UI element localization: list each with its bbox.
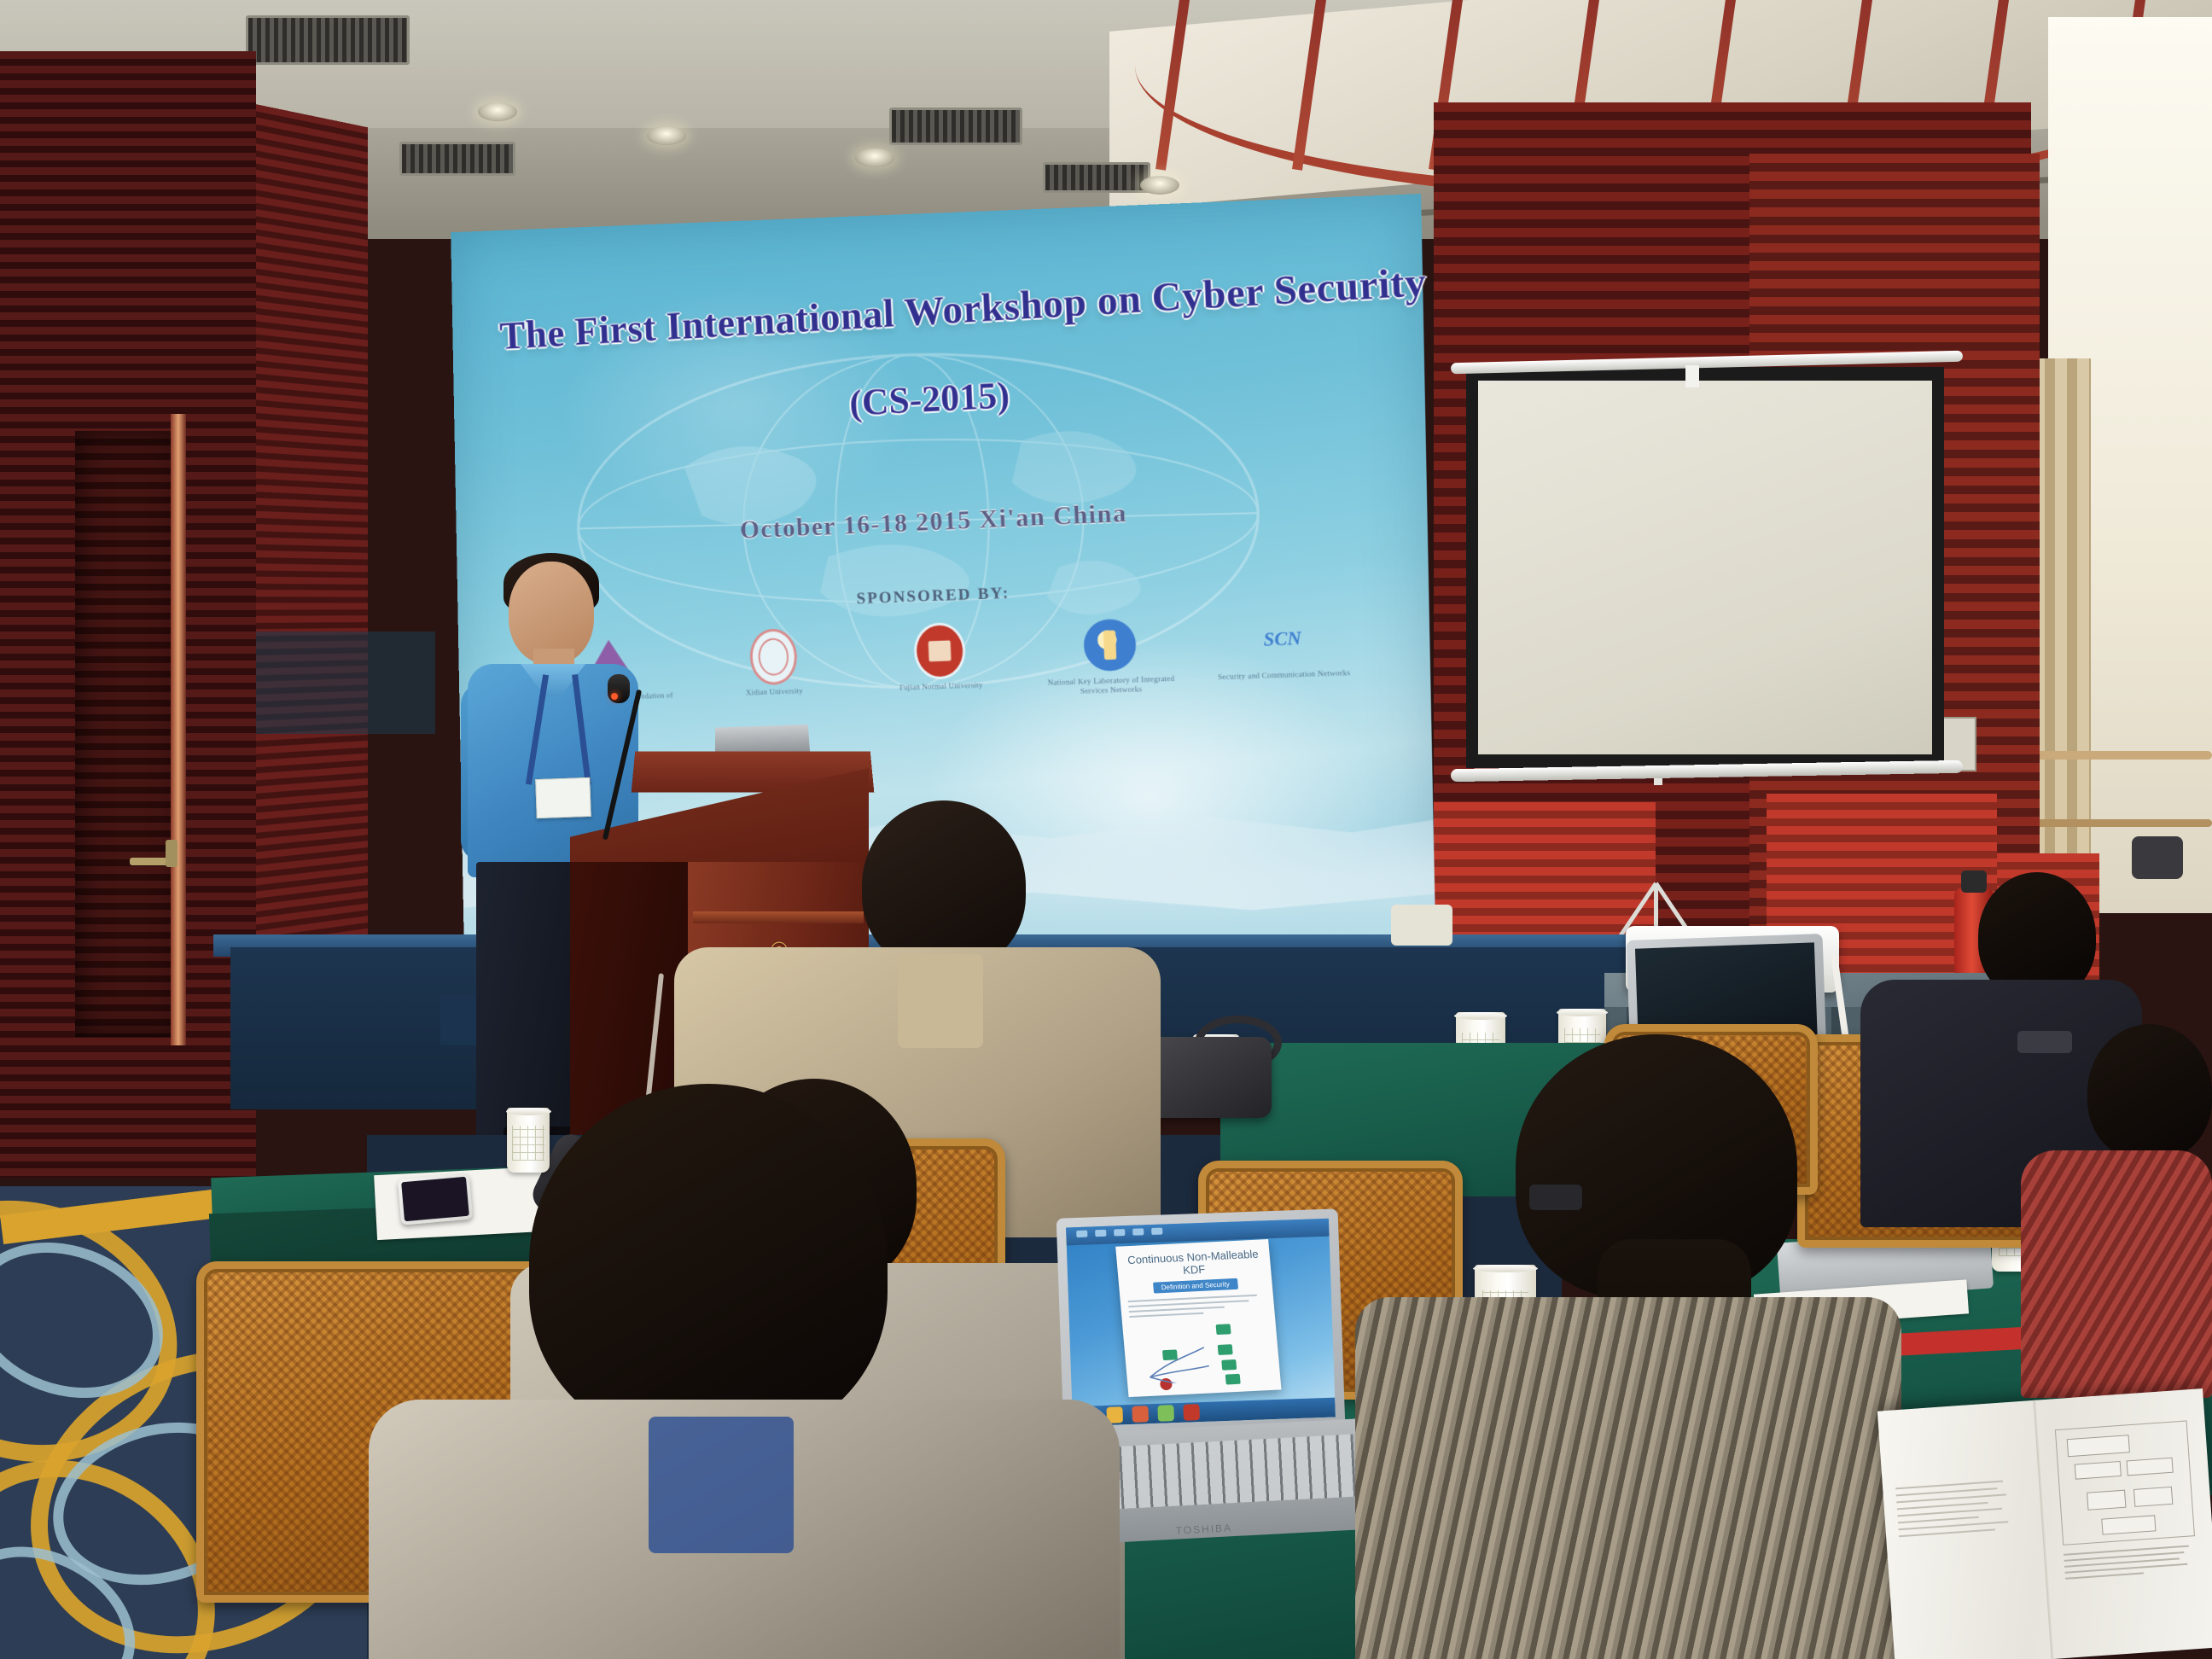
- microphone-led-indicator: [611, 693, 618, 700]
- sponsor-caption: Fujian Normal University: [869, 679, 1014, 694]
- sponsor-caption: Security and Communication Networks: [1208, 667, 1359, 682]
- conference-room-photo: The First International Workshop on Cybe…: [0, 0, 2212, 1659]
- attendee-head: [862, 800, 1026, 971]
- ceiling-downlight: [647, 126, 686, 145]
- door-frame: [171, 414, 186, 1045]
- attendee-striped-jacket: [1355, 1297, 1901, 1659]
- ceiling-downlight: [1140, 176, 1179, 195]
- red-seal-icon: [866, 622, 1013, 680]
- fire-extinguisher-valve-icon: [1961, 870, 1987, 893]
- balcony-rail: [2023, 751, 2212, 760]
- sponsor-caption: Xidian University: [703, 685, 846, 700]
- stage-box: [1391, 905, 1452, 946]
- slide-title: Continuous Non-Malleable KDF: [1124, 1248, 1263, 1280]
- sponsor-logo-scn: SCN Security and Communication Networks: [1207, 609, 1359, 683]
- toshiba-laptop-lid[interactable]: Continuous Non-Malleable KDF Definition …: [1057, 1208, 1346, 1435]
- slide-diagram: [1130, 1318, 1272, 1385]
- service-door[interactable]: [75, 431, 186, 1037]
- book-spine: [2034, 1400, 2055, 1659]
- scn-wordmark-icon: SCN: [1207, 609, 1359, 668]
- slide-body-text: [1127, 1295, 1266, 1318]
- ceiling-downlight: [478, 102, 517, 121]
- attendee-head-front: [529, 1084, 888, 1442]
- laptop-screen[interactable]: Continuous Non-Malleable KDF Definition …: [1066, 1219, 1336, 1427]
- oval-seal-icon: [701, 628, 846, 685]
- sponsor-logo-xidian: Xidian University: [701, 628, 847, 699]
- podium-trim-band: [693, 911, 864, 923]
- slide-arrows-icon: [1130, 1318, 1272, 1385]
- ceiling-vent: [889, 108, 1022, 145]
- wall-lamp: [2132, 836, 2183, 879]
- attendee-head: [2087, 1024, 2212, 1161]
- slide-section-bar: Definition and Security: [1152, 1278, 1238, 1294]
- balcony-rail: [2023, 819, 2212, 827]
- screen-hanger-hook: [1685, 365, 1699, 387]
- ceiling-vent: [399, 142, 515, 176]
- attendee-red-top: [2021, 1150, 2212, 1398]
- ceiling-vent: [1043, 162, 1150, 193]
- attendee-front-lanyard: [649, 1417, 794, 1553]
- sponsor-logo-isn: National Key Laboratory of Integrated Se…: [1035, 615, 1185, 697]
- os-taskbar[interactable]: [1066, 1219, 1330, 1246]
- attendee-collar: [898, 954, 983, 1048]
- open-proceedings-book[interactable]: [1877, 1388, 2212, 1659]
- paper-cup[interactable]: [507, 1108, 550, 1173]
- ceiling-downlight: [855, 148, 894, 167]
- eyeglasses-icon: [2017, 1031, 2072, 1053]
- book-body-text: [1895, 1479, 2029, 1543]
- book-figure-diagram: [2055, 1421, 2195, 1545]
- taskbar-buttons[interactable]: [1076, 1227, 1162, 1237]
- wall-recess: [256, 632, 435, 734]
- speaker-name-badge: [535, 777, 591, 818]
- blue-circle-icon: [1035, 615, 1185, 674]
- presentation-slide: Continuous Non-Malleable KDF Definition …: [1115, 1239, 1281, 1397]
- projector-screen-surface: [1478, 381, 1932, 754]
- eyeglasses-icon: [1529, 1185, 1582, 1210]
- sponsor-logo-fujian: Fujian Normal University: [866, 622, 1014, 694]
- ceiling-vent: [246, 15, 410, 65]
- book-caption-text: [2064, 1545, 2196, 1585]
- projector-screen: [1466, 367, 1944, 768]
- door-handle-icon[interactable]: [166, 840, 178, 867]
- microphone-icon: [608, 674, 630, 703]
- smartphone[interactable]: [398, 1173, 473, 1225]
